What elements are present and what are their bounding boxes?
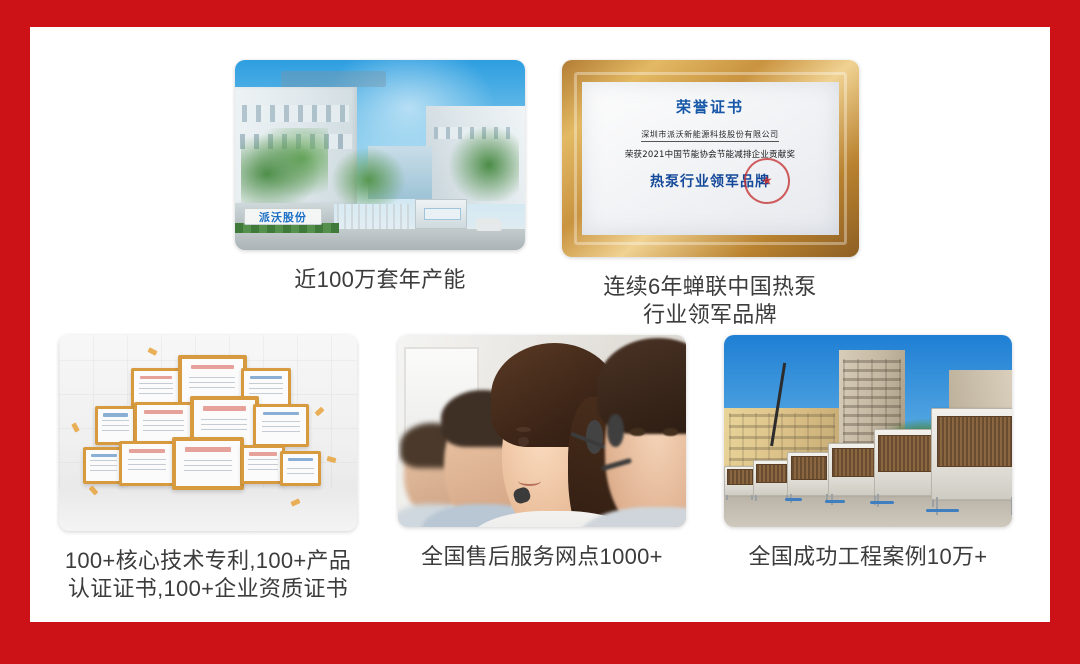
operator-eye: [518, 437, 528, 445]
condenser-coil: [791, 456, 827, 480]
heat-pump-installation-photo: [724, 335, 1012, 527]
trees-left: [241, 128, 328, 204]
card-capacity: 派沃股份 近100万套年产能: [230, 60, 530, 294]
guard-house-plate: [424, 208, 462, 219]
honor-certificate-photo: 荣誉证书 深圳市派沃新能源科技股份有限公司 荣获2021中国节能协会节能减排企业…: [562, 60, 859, 257]
card-service: 全国售后服务网点1000+: [397, 335, 687, 571]
water-pipe: [870, 501, 895, 504]
display-floor: [59, 488, 357, 531]
certificate-company: 深圳市派沃新能源科技股份有限公司: [641, 129, 779, 142]
condenser-coil: [756, 464, 787, 483]
headset-earpiece-icon: [607, 414, 624, 447]
operator-eyebrow: [516, 427, 531, 432]
heat-pump-unit: [931, 408, 1012, 500]
card-cases: 全国成功工程案例10万+: [723, 335, 1013, 571]
water-pipe: [825, 500, 845, 503]
operator-right-female: [605, 362, 686, 527]
slide-canvas: 派沃股份 近100万套年产能 荣誉证书 深圳市派沃新能源科技股份有限公司 荣获2…: [30, 27, 1050, 622]
heat-pump-unit: [724, 466, 756, 497]
caption-capacity: 近100万套年产能: [294, 266, 465, 294]
certificate-paper: 荣誉证书 深圳市派沃新能源科技股份有限公司 荣获2021中国节能协会节能减排企业…: [582, 82, 839, 235]
operator-eye: [630, 428, 645, 437]
unit-legs: [726, 495, 753, 501]
certificate-wall-photo: [59, 335, 357, 531]
condenser-coil: [878, 435, 932, 472]
company-wall-signage: 派沃股份: [244, 208, 322, 225]
water-pipe: [785, 498, 801, 501]
framed-certificate: [253, 404, 310, 447]
trees-middle: [328, 144, 409, 205]
card-certificates: 100+核心技术专利,100+产品 认证证书,100+企业资质证书: [58, 335, 358, 603]
caption-cases: 全国成功工程案例10万+: [749, 543, 988, 571]
heat-pump-unit: [753, 460, 790, 496]
heat-pump-unit: [787, 452, 830, 496]
trees-right: [444, 121, 519, 201]
condenser-coil: [832, 448, 876, 477]
card-brand: 荣誉证书 深圳市派沃新能源科技股份有限公司 荣获2021中国节能协会节能减排企业…: [560, 60, 860, 329]
caption-certificates: 100+核心技术专利,100+产品 认证证书,100+企业资质证书: [65, 547, 351, 603]
condenser-coil: [937, 416, 1011, 466]
building-left-sign: [281, 71, 385, 86]
operator-eye: [663, 428, 678, 437]
caption-brand: 连续6年蝉联中国热泵 行业领军品牌: [603, 273, 816, 329]
framed-certificate: [172, 437, 244, 490]
red-seal-stamp-icon: [741, 155, 793, 207]
framed-certificate: [241, 445, 286, 484]
heat-pump-unit: [828, 443, 880, 497]
framed-certificate: [119, 441, 176, 486]
certificate-title: 荣誉证书: [676, 96, 744, 117]
framed-certificate: [95, 406, 137, 445]
unit-legs: [936, 497, 1012, 515]
framed-certificate: [280, 451, 322, 486]
factory-campus-photo: 派沃股份: [235, 60, 525, 250]
call-center-photo: [398, 335, 686, 527]
heat-pump-unit: [874, 429, 937, 496]
slide-root: 派沃股份 近100万套年产能 荣誉证书 深圳市派沃新能源科技股份有限公司 荣获2…: [0, 0, 1080, 664]
condenser-coil: [727, 469, 753, 485]
parked-car: [476, 218, 502, 231]
operator-foreground-female: [502, 370, 606, 527]
factory-gate: [337, 204, 410, 229]
caption-service: 全国售后服务网点1000+: [421, 543, 663, 571]
water-pipe: [926, 509, 960, 512]
headset-earpiece-icon: [586, 420, 604, 454]
unit-legs: [755, 495, 788, 502]
